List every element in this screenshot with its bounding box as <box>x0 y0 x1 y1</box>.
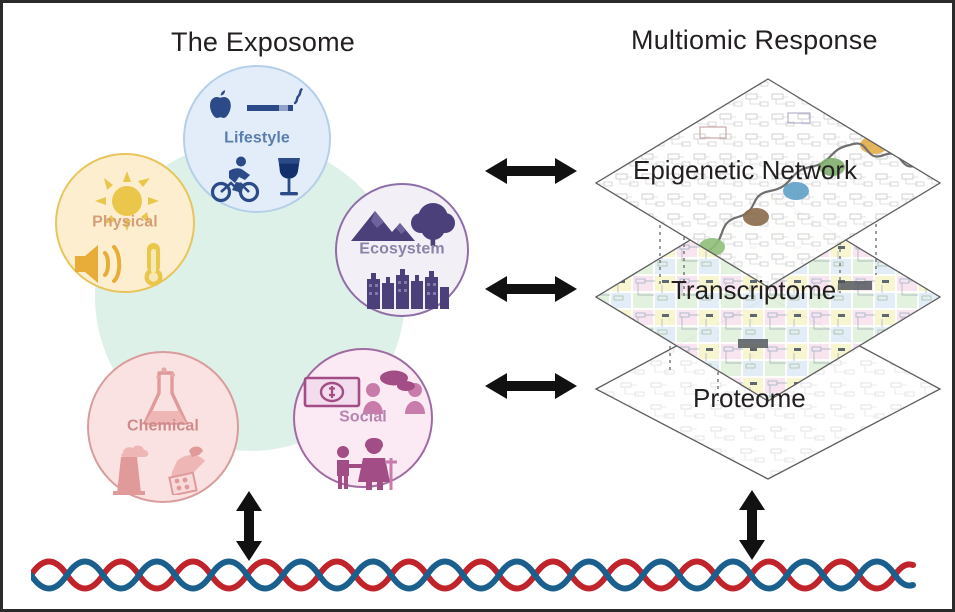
arrow-exposome-proteome <box>485 370 577 402</box>
page-title-multiomic: Multiomic Response <box>631 25 878 56</box>
exposome-node-label: Social <box>295 409 431 427</box>
thermometer-icon <box>145 243 163 286</box>
exposome-node-label: Physical <box>57 214 193 232</box>
exposome-node-social[interactable]: Social <box>293 348 433 488</box>
exposome-node-chemical[interactable]: Chemical <box>87 351 239 503</box>
wine-glass-icon <box>278 158 300 195</box>
smokestack-icon <box>113 446 148 495</box>
arrow-multiomic-genome <box>736 490 768 560</box>
speech-bubbles-icon <box>380 371 415 392</box>
exposome-node-physical[interactable]: Physical <box>55 153 195 293</box>
exposome-node-label: Chemical <box>89 418 237 436</box>
page-title-exposome: The Exposome <box>171 27 355 58</box>
lifestyle-bottom-icons <box>209 155 313 203</box>
social-top-icons <box>303 370 427 414</box>
exposome-node-lifestyle[interactable]: Lifestyle <box>183 65 331 213</box>
lifestyle-top-icons <box>203 87 315 125</box>
exposome-node-ecosystem[interactable]: Ecosystem <box>335 183 469 317</box>
layer-epigenetic[interactable] <box>596 79 940 287</box>
multiomic-layer-stack <box>588 71 948 481</box>
pills-icon <box>169 447 205 496</box>
adult-child-icon <box>329 436 405 490</box>
apple-icon <box>210 90 231 118</box>
arrow-exposome-transcriptome <box>485 273 577 305</box>
exposome-node-label: Ecosystem <box>337 241 467 259</box>
figure-root: The Exposome Multiomic Response Lifestyl… <box>0 0 955 612</box>
mountains-icon <box>351 211 415 241</box>
dna-double-helix <box>31 555 917 595</box>
chemical-bottom-icons <box>103 441 227 495</box>
physical-bottom-icons <box>71 241 183 287</box>
exposome-node-label: Lifestyle <box>185 130 329 148</box>
tree-icon <box>411 203 455 246</box>
speaker-noise-icon <box>75 245 119 283</box>
banknote-icon <box>305 378 359 406</box>
arrow-exposome-epigenetic <box>485 155 577 187</box>
cyclist-icon <box>213 157 258 201</box>
city-buildings-icon <box>365 267 451 309</box>
arrow-exposome-genome <box>233 491 265 561</box>
cigarette-icon <box>247 89 302 111</box>
